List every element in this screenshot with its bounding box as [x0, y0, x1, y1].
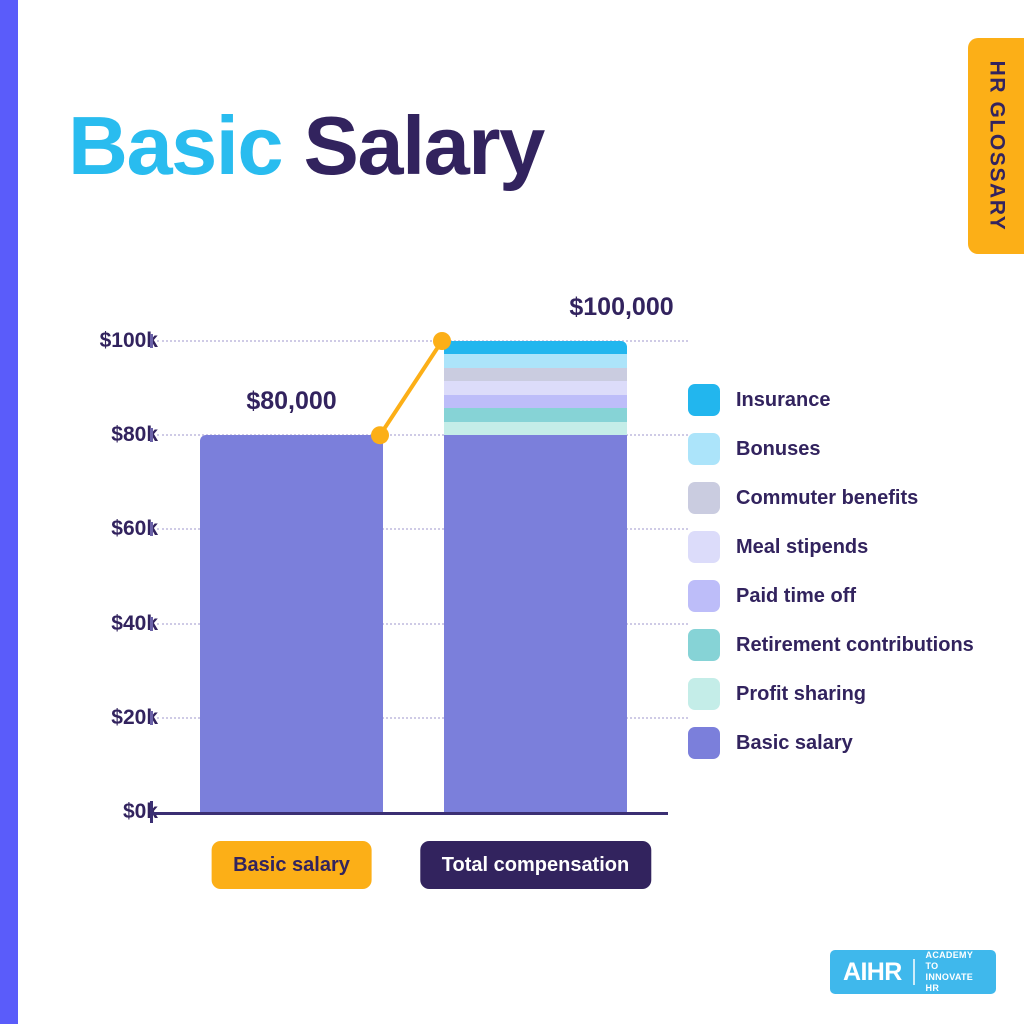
bar-segment-profit-sharing[interactable] [444, 422, 627, 435]
legend-item[interactable]: Meal stipends [688, 531, 974, 563]
legend-swatch-icon [688, 384, 720, 416]
bar-segment-retirement-contributions[interactable] [444, 408, 627, 421]
category-pill-basic-salary[interactable]: Basic salary [211, 841, 372, 889]
y-axis-tick-mark [150, 711, 153, 725]
legend-item[interactable]: Insurance [688, 384, 974, 416]
y-axis-tick-mark [150, 522, 153, 536]
y-axis-tick-label: $80k [68, 423, 158, 447]
bar-segment-commuter-benefits[interactable] [444, 368, 627, 381]
legend-swatch-icon [688, 629, 720, 661]
x-axis-origin-tick [150, 801, 153, 823]
legend-item[interactable]: Commuter benefits [688, 482, 974, 514]
chart-legend: InsuranceBonusesCommuter benefitsMeal st… [688, 384, 974, 759]
bar-segment-bonuses[interactable] [444, 354, 627, 367]
y-axis-tick-mark [150, 428, 153, 442]
logo-tagline-line-2: INNOVATE HR [926, 972, 974, 993]
category-pill-total-compensation[interactable]: Total compensation [420, 841, 651, 889]
logo-tagline-line-1: ACADEMY TO [926, 950, 973, 971]
y-axis-tick-mark [150, 617, 153, 631]
legend-item-label: Insurance [736, 389, 830, 412]
legend-item-label: Paid time off [736, 585, 856, 608]
aihr-logo: AIHR ACADEMY TO INNOVATE HR [830, 950, 996, 994]
legend-swatch-icon [688, 531, 720, 563]
legend-item[interactable]: Basic salary [688, 727, 974, 759]
legend-item-label: Bonuses [736, 438, 820, 461]
bar-value-label: $80,000 [246, 387, 336, 416]
legend-item[interactable]: Profit sharing [688, 678, 974, 710]
y-axis-tick-label: $0k [68, 800, 158, 824]
x-axis-baseline [150, 812, 668, 815]
y-axis-tick-label: $40k [68, 612, 158, 636]
legend-item-label: Commuter benefits [736, 487, 918, 510]
legend-item-label: Retirement contributions [736, 634, 974, 657]
y-axis-tick-label: $100k [68, 329, 158, 353]
bar-segment-paid-time-off[interactable] [444, 395, 627, 408]
y-axis-tick-label: $60k [68, 517, 158, 541]
bar-segment-basic-salary[interactable] [200, 435, 383, 812]
legend-swatch-icon [688, 678, 720, 710]
legend-item-label: Meal stipends [736, 536, 868, 559]
bar-segment-insurance[interactable] [444, 341, 627, 354]
bar-segment-meal-stipends[interactable] [444, 381, 627, 394]
legend-swatch-icon [688, 433, 720, 465]
legend-item-label: Basic salary [736, 732, 853, 755]
bar-basic-salary[interactable] [200, 435, 383, 812]
legend-item-label: Profit sharing [736, 683, 866, 706]
bar-value-label: $100,000 [569, 293, 673, 322]
logo-divider [913, 959, 915, 985]
bar-segment-basic-salary[interactable] [444, 435, 627, 812]
y-axis-tick-label: $20k [68, 706, 158, 730]
legend-swatch-icon [688, 727, 720, 759]
logo-tagline: ACADEMY TO INNOVATE HR [926, 950, 983, 995]
bar-total-compensation[interactable] [444, 341, 627, 812]
y-axis-tick-mark [150, 334, 153, 348]
legend-item[interactable]: Retirement contributions [688, 629, 974, 661]
legend-swatch-icon [688, 580, 720, 612]
legend-item[interactable]: Bonuses [688, 433, 974, 465]
logo-brand-name: AIHR [843, 958, 902, 987]
legend-item[interactable]: Paid time off [688, 580, 974, 612]
legend-swatch-icon [688, 482, 720, 514]
